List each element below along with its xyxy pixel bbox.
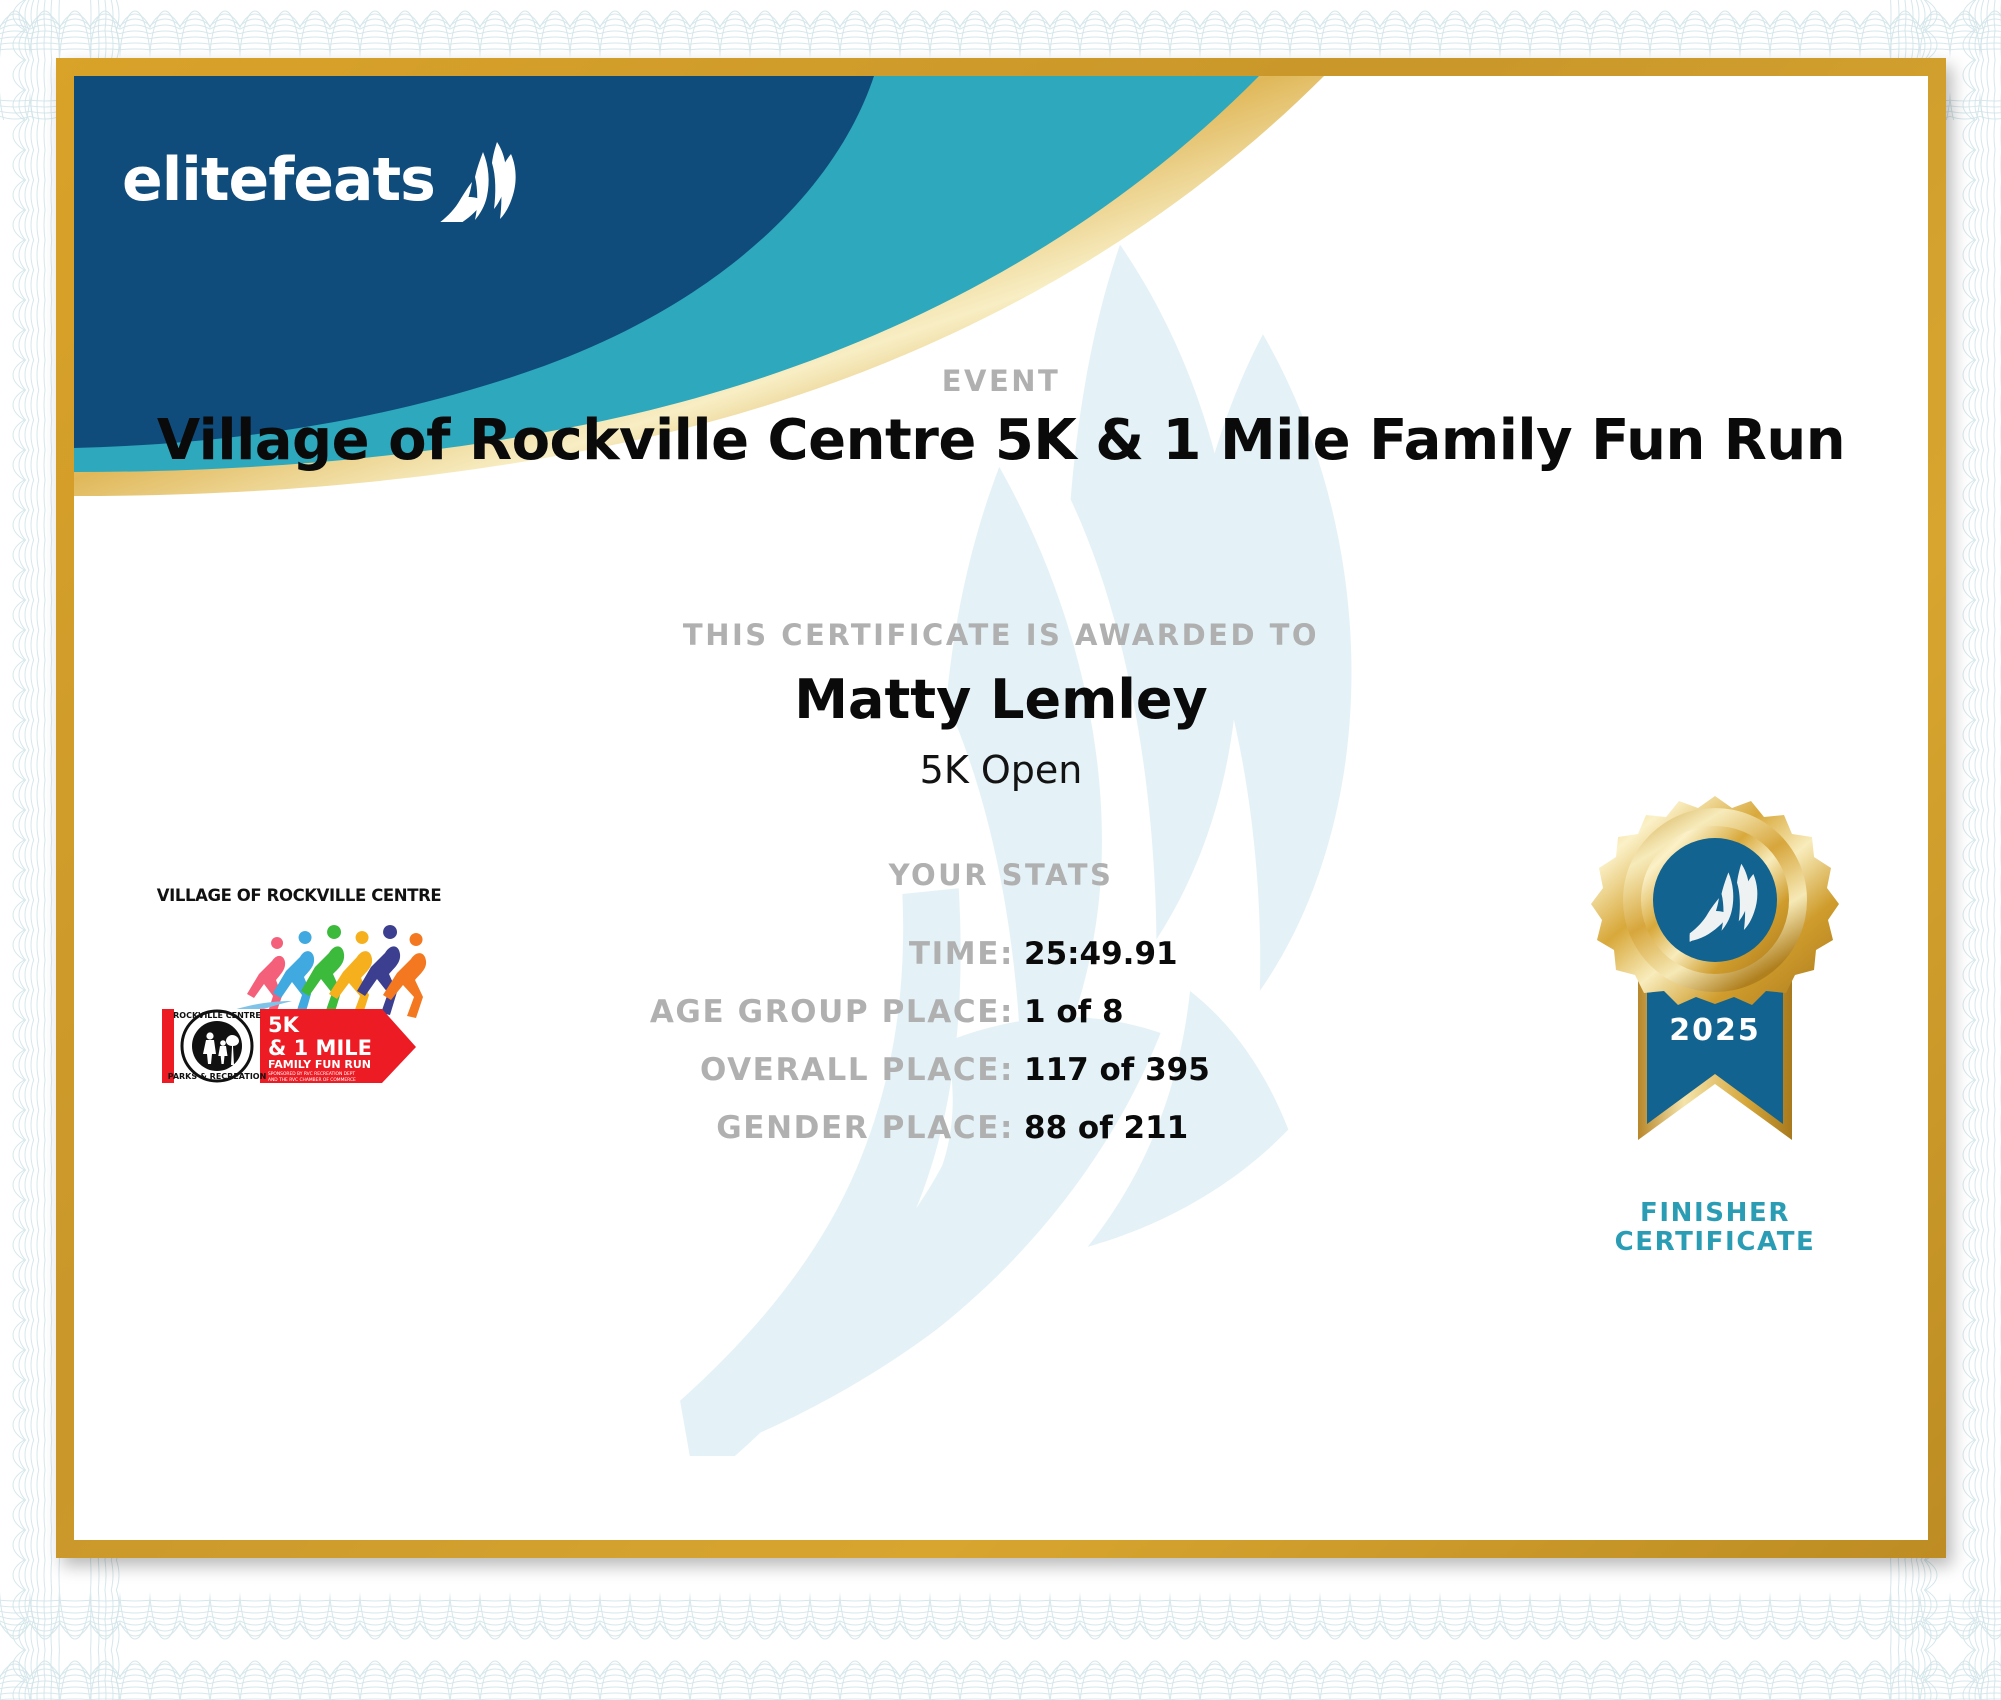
medal-graphic: 2025	[1590, 788, 1840, 1188]
certificate-gold-frame: elitefeats EVENT Village of Rockville Ce…	[56, 58, 1946, 1558]
certificate-inner-card: elitefeats EVENT Village of Rockville Ce…	[74, 76, 1928, 1540]
race-sponsor-line1: SPONSORED BY RVC RECREATION DEPT	[268, 1071, 355, 1077]
medal-caption-line2: CERTIFICATE	[1590, 1228, 1840, 1257]
stat-value: 117 of 395	[1024, 1052, 1254, 1088]
stat-key: GENDER PLACE:	[716, 1110, 1014, 1146]
seal-bottom-text: PARKS & RECREATION	[168, 1072, 267, 1081]
stat-key: AGE GROUP PLACE:	[650, 994, 1014, 1030]
stat-key: OVERALL PLACE:	[700, 1052, 1014, 1088]
race-distance-line1: 5K	[268, 1013, 300, 1037]
medal-caption: FINISHER CERTIFICATE	[1590, 1199, 1840, 1257]
stat-value: 25:49.91	[1024, 936, 1254, 972]
recipient-name: Matty Lemley	[74, 668, 1928, 731]
stat-value: 1 of 8	[1024, 994, 1254, 1030]
stat-key: TIME:	[909, 936, 1014, 972]
recipient-division: 5K Open	[74, 748, 1928, 792]
race-event-logo: VILLAGE OF ROCKVILLE CENTRE	[144, 886, 454, 1086]
medal-year: 2025	[1669, 1013, 1761, 1048]
certificate-content: EVENT Village of Rockville Centre 5K & 1…	[74, 76, 1928, 1540]
medal-caption-line1: FINISHER	[1590, 1199, 1840, 1228]
event-label: EVENT	[74, 364, 1928, 398]
race-distance-line2: & 1 MILE	[268, 1036, 372, 1060]
awarded-to-label: THIS CERTIFICATE IS AWARDED TO	[74, 618, 1928, 652]
race-sponsor-line2: AND THE RVC CHAMBER OF COMMERCE	[268, 1077, 356, 1083]
race-logo-graphic: ROCKVILLE CENTRE PARKS & RECREATION 5K &…	[144, 905, 454, 1083]
race-logo-title: VILLAGE OF ROCKVILLE CENTRE	[144, 886, 454, 905]
race-subtitle: FAMILY FUN RUN	[268, 1058, 371, 1071]
ribbon-body	[1647, 984, 1783, 1124]
event-title: Village of Rockville Centre 5K & 1 Mile …	[74, 408, 1928, 473]
medal-rosette	[1591, 796, 1839, 1005]
seal-top-text: ROCKVILLE CENTRE	[173, 1011, 261, 1020]
finisher-medal-badge: 2025	[1590, 788, 1840, 1257]
certificate-page: elitefeats EVENT Village of Rockville Ce…	[0, 0, 2001, 1700]
stat-row-gender-place: GENDER PLACE: 88 of 211	[74, 1110, 1254, 1146]
stat-value: 88 of 211	[1024, 1110, 1254, 1146]
